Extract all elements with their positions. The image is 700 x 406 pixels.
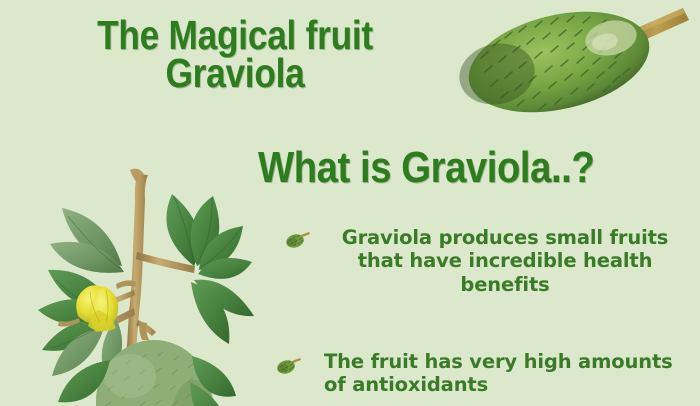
graviola-fruit-icon <box>285 230 311 249</box>
bullet-text: Graviola produces small fruits that have… <box>325 226 685 296</box>
graviola-plant-illustration <box>0 160 256 406</box>
section-heading: What is Graviola..? <box>258 146 594 190</box>
bullet-item: Graviola produces small fruits that have… <box>285 226 697 296</box>
graviola-fruit-icon <box>276 356 302 375</box>
title-line-1: The Magical fruit <box>59 16 412 54</box>
page-title: The Magical fruit Graviola <box>30 16 440 92</box>
title-line-2: Graviola <box>59 54 412 92</box>
bullet-text: The fruit has very high amounts of antio… <box>324 350 696 397</box>
bullet-item: The fruit has very high amounts of antio… <box>276 350 696 397</box>
infographic-poster: The Magical fruit Graviola What is Gravi… <box>0 0 700 406</box>
soursop-fruit-photo <box>455 0 700 124</box>
